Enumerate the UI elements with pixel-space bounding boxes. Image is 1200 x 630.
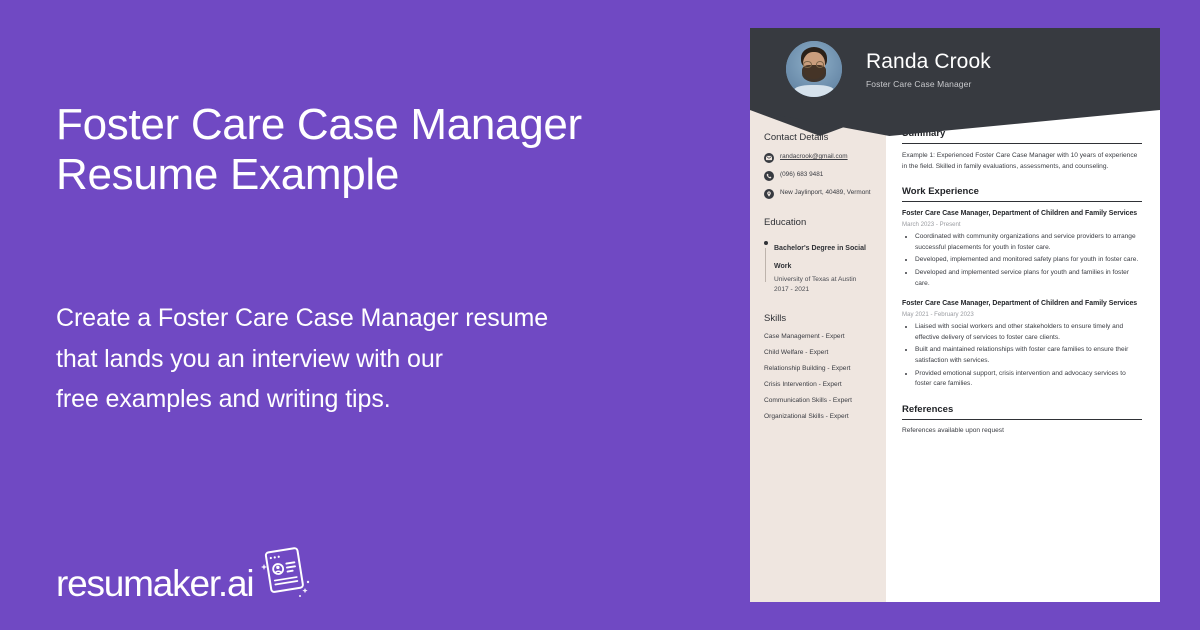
- references-title: References: [902, 404, 1142, 415]
- job-bullet: Built and maintained relationships with …: [915, 345, 1142, 366]
- contact-address-row: New Jaylinport, 40489, Vermont: [764, 188, 872, 199]
- job-bullet: Coordinated with community organizations…: [915, 232, 1142, 253]
- bullet-icon: [764, 241, 768, 245]
- list-item: Case Management - Expert: [764, 333, 872, 340]
- references-text: References available upon request: [902, 427, 1142, 434]
- references-section: References References available upon req…: [902, 404, 1142, 434]
- resume-header: Randa Crook Foster Care Case Manager: [750, 28, 1160, 110]
- envelope-icon: [764, 153, 774, 163]
- education-title: Education: [764, 217, 872, 228]
- contact-email-row[interactable]: randacrook@gmail.com: [764, 152, 872, 163]
- summary-section: Summary Example 1: Experienced Foster Ca…: [902, 128, 1142, 172]
- summary-text: Example 1: Experienced Foster Care Case …: [902, 151, 1142, 172]
- page-title: Foster Care Case Manager Resume Example: [56, 100, 676, 200]
- contact-address-value: New Jaylinport, 40489, Vermont: [780, 188, 871, 198]
- logo-wordmark: resumaker.ai: [56, 565, 253, 602]
- job-bullet: Developed, implemented and monitored saf…: [915, 255, 1142, 266]
- list-item: Relationship Building - Expert: [764, 365, 872, 372]
- skills-title: Skills: [764, 313, 872, 324]
- resume-job-title: Foster Care Case Manager: [866, 79, 991, 89]
- job-entry: Foster Care Case Manager, Department of …: [902, 209, 1142, 289]
- contact-phone-value: (096) 683 9481: [780, 170, 823, 180]
- resume-document-icon: [255, 544, 313, 602]
- list-item: Communication Skills - Expert: [764, 397, 872, 404]
- list-item: Child Welfare - Expert: [764, 349, 872, 356]
- contact-email-value[interactable]: randacrook@gmail.com: [780, 152, 848, 162]
- phone-icon: [764, 171, 774, 181]
- divider: [902, 143, 1142, 144]
- resume-main-column: Summary Example 1: Experienced Foster Ca…: [886, 110, 1160, 602]
- divider: [902, 201, 1142, 202]
- contact-details-section: Contact Details randacrook@gmail.com (09…: [764, 132, 872, 199]
- resume-name: Randa Crook: [866, 50, 991, 74]
- promo-panel: Foster Care Case Manager Resume Example …: [56, 0, 696, 630]
- job-date: March 2023 - Present: [902, 221, 1142, 228]
- job-title: Foster Care Case Manager, Department of …: [902, 209, 1142, 219]
- list-item: Organizational Skills - Expert: [764, 413, 872, 420]
- resumaker-logo[interactable]: resumaker.ai: [56, 544, 313, 602]
- education-item: Bachelor's Degree in Social Work Univers…: [764, 237, 872, 295]
- education-degree: Bachelor's Degree in Social Work: [774, 245, 866, 270]
- job-bullet: Provided emotional support, crisis inter…: [915, 369, 1142, 390]
- job-date: May 2021 - February 2023: [902, 311, 1142, 318]
- contact-phone-row[interactable]: (096) 683 9481: [764, 170, 872, 181]
- job-bullet: Developed and implemented service plans …: [915, 268, 1142, 289]
- job-entry: Foster Care Case Manager, Department of …: [902, 299, 1142, 390]
- education-years: 2017 - 2021: [774, 285, 872, 295]
- avatar: [786, 41, 842, 97]
- job-bullet: Liaised with social workers and other st…: [915, 322, 1142, 343]
- job-title: Foster Care Case Manager, Department of …: [902, 299, 1142, 309]
- education-school: University of Texas at Austin: [774, 275, 872, 285]
- education-section: Education Bachelor's Degree in Social Wo…: [764, 217, 872, 295]
- skills-section: Skills Case Management - Expert Child We…: [764, 313, 872, 420]
- resume-preview-card[interactable]: Randa Crook Foster Care Case Manager Con…: [750, 28, 1160, 602]
- list-item: Crisis Intervention - Expert: [764, 381, 872, 388]
- work-experience-title: Work Experience: [902, 186, 1142, 197]
- resume-sidebar: Contact Details randacrook@gmail.com (09…: [750, 110, 886, 602]
- work-experience-section: Work Experience Foster Care Case Manager…: [902, 186, 1142, 390]
- divider: [902, 419, 1142, 420]
- promo-subheading: Create a Foster Care Case Manager resume…: [56, 298, 656, 420]
- location-pin-icon: [764, 189, 774, 199]
